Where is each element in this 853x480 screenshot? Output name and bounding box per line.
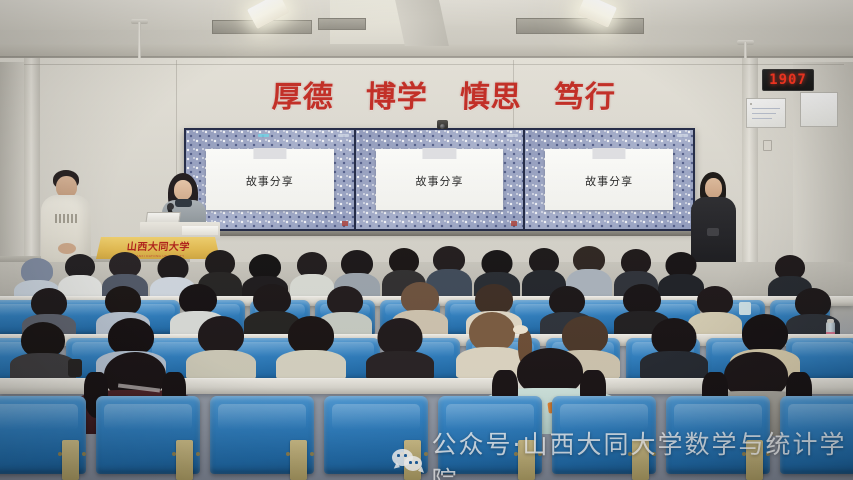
display-wall[interactable]: 故事分享 故事分享 故事分享 bbox=[184, 128, 695, 231]
bottle-cap bbox=[827, 319, 834, 323]
slide-tab bbox=[253, 148, 286, 159]
head bbox=[742, 314, 788, 354]
seat-bracket bbox=[62, 440, 79, 480]
seat-bolt bbox=[424, 452, 428, 456]
seat-bolt bbox=[538, 452, 542, 456]
seat-bolt bbox=[766, 452, 770, 456]
body bbox=[276, 350, 346, 380]
phone-icon[interactable] bbox=[707, 228, 719, 236]
slide-right: 故事分享 bbox=[545, 149, 672, 210]
motto-char-2: 博学 bbox=[365, 72, 429, 116]
seat-row-1[interactable] bbox=[0, 396, 853, 474]
seat-bolt bbox=[310, 452, 314, 456]
notice-line bbox=[752, 108, 780, 109]
seat-bolt bbox=[172, 452, 176, 456]
seat-bolt bbox=[514, 452, 518, 456]
phone-in-hand-icon[interactable] bbox=[68, 359, 82, 377]
camera-lens-icon bbox=[440, 124, 445, 129]
head bbox=[705, 178, 722, 198]
body bbox=[10, 353, 76, 381]
body bbox=[366, 351, 434, 380]
screen-status-led-center bbox=[258, 134, 269, 137]
ceiling-vent-mid bbox=[318, 18, 366, 30]
podium-banner-cn: 山西大同大学 bbox=[126, 238, 191, 253]
screen-center[interactable]: 故事分享 bbox=[356, 130, 526, 229]
wall-notice-right bbox=[746, 98, 786, 128]
seat-bolt bbox=[628, 452, 632, 456]
wall-seam-horizontal bbox=[24, 64, 844, 65]
podium-papers bbox=[182, 226, 218, 235]
display-wall-base bbox=[184, 231, 695, 236]
seat-bolt bbox=[400, 452, 404, 456]
seat-bracket bbox=[176, 440, 193, 480]
ceiling-slab-right bbox=[440, 0, 853, 26]
seat-bracket bbox=[404, 440, 421, 480]
led-clock-digits: 1907 bbox=[769, 72, 807, 88]
audience-student bbox=[366, 318, 434, 378]
person-standing-left bbox=[38, 170, 96, 266]
ceiling-vent-right bbox=[516, 18, 644, 34]
slide-tab bbox=[593, 148, 626, 159]
wall-pillar-right bbox=[742, 58, 758, 263]
screen-left[interactable]: 故事分享 bbox=[186, 130, 356, 229]
seat-foreground[interactable] bbox=[780, 396, 853, 474]
led-clock: 1907 bbox=[762, 69, 814, 91]
audience-student bbox=[276, 316, 346, 378]
motto-char-4: 笃行 bbox=[553, 72, 617, 116]
slide-left: 故事分享 bbox=[206, 149, 333, 210]
microphone-head bbox=[167, 203, 174, 210]
seat-bolt bbox=[58, 452, 62, 456]
slide-tab bbox=[423, 148, 456, 159]
motto-char-3: 慎思 bbox=[459, 72, 523, 116]
wall-notice-left-lower bbox=[750, 103, 752, 105]
seat-bolt bbox=[742, 452, 746, 456]
seat-bolt bbox=[286, 452, 290, 456]
seat-bracket bbox=[746, 440, 763, 480]
head bbox=[174, 180, 192, 200]
screen-logo bbox=[342, 221, 348, 226]
wall-notice-far-right bbox=[800, 92, 838, 127]
head bbox=[469, 312, 515, 352]
motto-char-1: 厚德 bbox=[271, 72, 335, 116]
slide-title-left: 故事分享 bbox=[246, 173, 294, 189]
sweatshirt-graphic bbox=[55, 214, 77, 223]
slide-title-center: 故事分享 bbox=[415, 173, 463, 189]
seat-bracket bbox=[632, 440, 649, 480]
screen-status-led bbox=[677, 134, 688, 137]
seat-bracket bbox=[290, 440, 307, 480]
left-wall bbox=[0, 62, 24, 262]
screen-right[interactable]: 故事分享 bbox=[525, 130, 693, 229]
seat-bolt bbox=[652, 452, 656, 456]
seat-bolt bbox=[196, 452, 200, 456]
screen-status-led bbox=[507, 134, 518, 137]
screen-logo bbox=[511, 221, 517, 226]
lecture-hall-photo: 厚德 博学 慎思 笃行 1907 故事分享 bbox=[0, 0, 853, 480]
seat-bolt bbox=[82, 452, 86, 456]
screen-status-led bbox=[338, 134, 349, 137]
notice-line bbox=[752, 118, 772, 119]
collar bbox=[175, 199, 192, 207]
slide-title-right: 故事分享 bbox=[585, 173, 633, 189]
wall-socket bbox=[763, 140, 772, 151]
notice-line bbox=[752, 113, 776, 114]
audience-student bbox=[10, 322, 76, 378]
hands-clasped bbox=[58, 243, 76, 254]
seat-bracket bbox=[518, 440, 535, 480]
slide-center: 故事分享 bbox=[376, 149, 503, 210]
hair-scrunchie bbox=[513, 325, 528, 334]
wall-motto: 厚德 博学 慎思 笃行 bbox=[272, 74, 616, 114]
